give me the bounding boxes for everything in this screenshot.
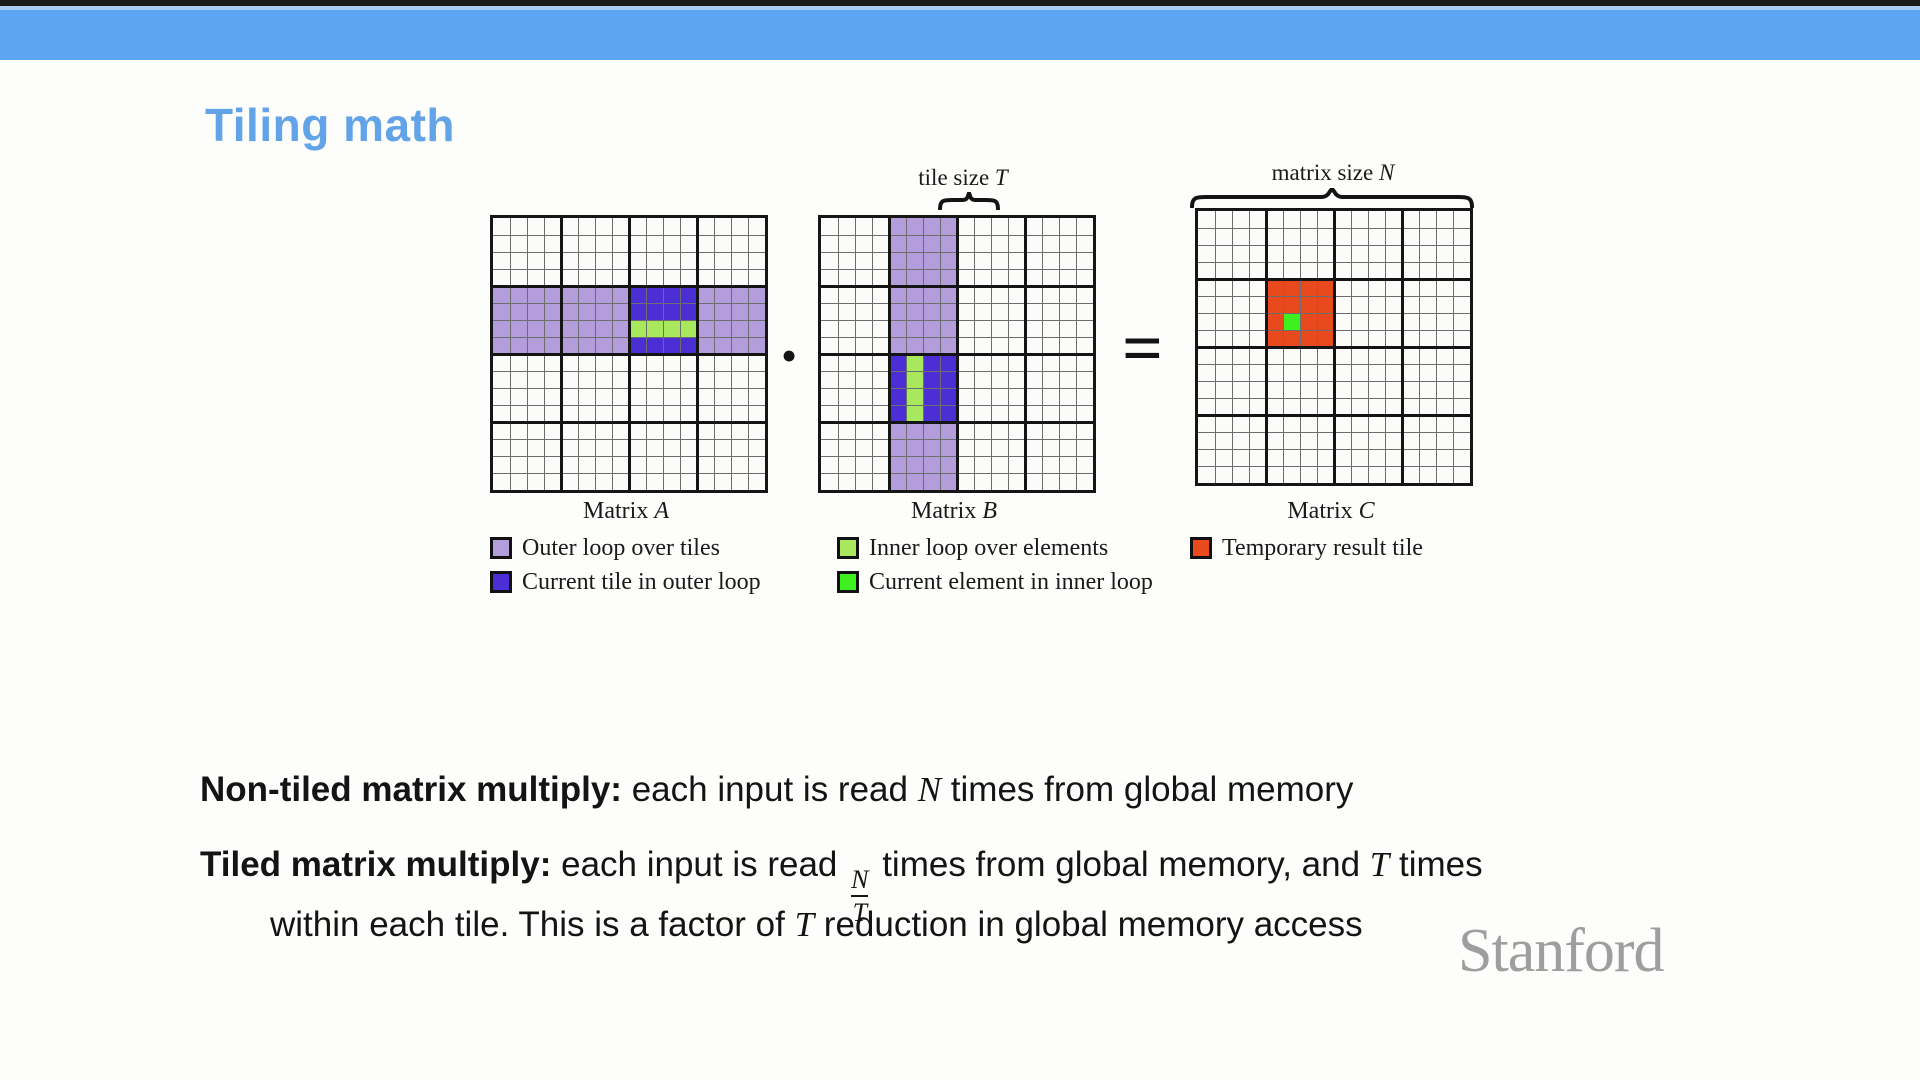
matrix-cell [561,286,578,303]
legend-label-current-element-in-inner-loop: Current element in inner loop [869,570,1153,594]
matrix-cell [906,354,923,371]
matrix-cell [1283,296,1300,313]
matrix-cell [889,303,906,320]
matrix-cell [906,320,923,337]
matrix-cell [923,388,940,405]
legend-label-temporary-result-tile: Temporary result tile [1222,536,1423,560]
tile-boundary-horizontal [1198,346,1470,349]
legend-label-current-tile-in-outer-loop: Current tile in outer loop [522,570,761,594]
matrix-cell [510,303,527,320]
matrix-cell [940,354,957,371]
matrix-cell [889,456,906,473]
matrix-cell [1317,330,1334,347]
matrix-cell [1266,279,1283,296]
matrix-cell [493,320,510,337]
matrix-cell [923,286,940,303]
matrix-cell [940,405,957,422]
matrix-cell [906,218,923,235]
fraction-bar [851,895,868,897]
matrix-cell [889,337,906,354]
matrix-cell [510,337,527,354]
matrix-cell [906,473,923,490]
legend-label-outer-loop-over-tiles: Outer loop over tiles [522,536,720,560]
body-line-1: Non-tiled matrix multiply: each input is… [200,770,1353,810]
matrix-a-label: Matrix A [490,498,762,525]
matrix-cell [940,337,957,354]
matrix-cell [1300,296,1317,313]
matrix-cell [889,388,906,405]
matrix-cell [629,303,646,320]
matrix-cell [493,303,510,320]
matrix-cell [940,439,957,456]
legend-item-outer-loop-over-tiles: Outer loop over tiles [490,536,720,560]
matrix-cell [889,473,906,490]
matrix-cell [906,456,923,473]
legend-label-inner-loop-over-elements: Inner loop over elements [869,536,1108,560]
body-line-3: within each tile. This is a factor of T … [270,905,1363,945]
body-line-2-part-b: times from global memory, and [872,845,1369,884]
matrix-cell [906,337,923,354]
legend-swatch-outer-loop-over-tiles [490,537,512,559]
legend-swatch-inner-loop-over-elements [837,537,859,559]
matrix-a-grid [490,215,768,493]
tile-boundary-horizontal [821,353,1093,356]
slide-canvas: Tiling math tile size T matrix size N • … [0,0,1920,1080]
matrix-cell [612,337,629,354]
matrix-cell [731,320,748,337]
matrix-cell [923,303,940,320]
legend-swatch-temporary-result-tile [1190,537,1212,559]
matrix-cell [595,286,612,303]
matrix-c-label: Matrix C [1195,498,1467,525]
matrix-cell [889,320,906,337]
matrix-cell [680,303,697,320]
matrix-cell [940,303,957,320]
matrix-cell [923,405,940,422]
matrix-cell [646,320,663,337]
matrix-cell [906,252,923,269]
matrix-c-grid [1195,208,1473,486]
matrix-cell [714,286,731,303]
matrix-cell [923,337,940,354]
matrix-cell [940,218,957,235]
matrix-cell [906,371,923,388]
matrix-cell [646,303,663,320]
matrix-cell [714,303,731,320]
matrix-cell [646,286,663,303]
matrix-cell [940,252,957,269]
matrix-cell [578,337,595,354]
matrix-cell [923,371,940,388]
legend-swatch-current-tile-in-outer-loop [490,571,512,593]
matrix-cell [629,320,646,337]
matrix-cell [940,422,957,439]
matrix-cell [923,473,940,490]
body-line-1-part-a: each input is read [622,770,918,809]
matrix-size-text: matrix size [1272,160,1374,185]
tile-boundary-vertical [1024,218,1027,490]
tile-boundary-horizontal [821,421,1093,424]
matrix-cell [663,303,680,320]
matrix-cell [663,320,680,337]
matrix-cell [612,320,629,337]
matrix-cell [680,337,697,354]
tile-size-label: tile size T [893,165,1033,191]
tile-size-brace [938,192,1000,210]
matrix-cell [527,337,544,354]
body-line-3-part-b: reduction in global memory access [814,905,1363,944]
matrix-cell [1317,313,1334,330]
matrix-cell [544,303,561,320]
matrix-cell [940,456,957,473]
matrix-cell [731,337,748,354]
top-blue-banner [0,6,1920,60]
body-line-3-part-a: within each tile. This is a factor of [270,905,795,944]
matrix-cell [697,286,714,303]
matrix-cell [595,303,612,320]
matrix-cell [697,303,714,320]
body-line-2-symbol: T [1370,845,1389,884]
matrix-cell [714,337,731,354]
matrix-cell [1283,279,1300,296]
matrix-cell [923,218,940,235]
matrix-cell [940,388,957,405]
body-line-1-bold: Non-tiled matrix multiply: [200,770,622,809]
matrix-cell [1266,296,1283,313]
matrix-cell [578,303,595,320]
matrix-cell [1317,279,1334,296]
matrix-cell [889,269,906,286]
tile-boundary-horizontal [1198,414,1470,417]
matrix-cell [544,337,561,354]
matrix-cell [923,439,940,456]
matrix-cell [527,303,544,320]
matrix-size-symbol: N [1379,160,1394,185]
matrix-cell [940,320,957,337]
stanford-watermark: Stanford [1458,916,1664,987]
top-banner-highlight [0,6,1920,10]
matrix-cell [940,473,957,490]
matrix-cell [748,286,765,303]
matrix-cell [510,286,527,303]
tile-size-symbol: T [995,165,1008,190]
matrix-cell [510,320,527,337]
matrix-cell [889,354,906,371]
matrix-cell [646,337,663,354]
matrix-cell [940,371,957,388]
matrix-cell [697,337,714,354]
matrix-cell [923,354,940,371]
body-line-1-symbol: N [918,770,941,809]
matrix-cell [629,337,646,354]
matrix-cell [561,337,578,354]
matrix-cell [1283,330,1300,347]
matrix-cell [527,286,544,303]
matrix-cell [889,422,906,439]
matrix-cell [748,337,765,354]
matrix-cell [1266,330,1283,347]
matrix-cell [940,269,957,286]
matrix-cell [923,269,940,286]
tile-boundary-vertical [696,218,699,490]
matrix-cell [1300,279,1317,296]
matrix-cell [889,405,906,422]
tile-boundary-horizontal [493,353,765,356]
matrix-cell [663,337,680,354]
matrix-cell [940,286,957,303]
matrix-cell [906,235,923,252]
legend-swatch-current-element-in-inner-loop [837,571,859,593]
tile-boundary-horizontal [493,421,765,424]
matrix-cell [663,286,680,303]
matrix-cell [680,320,697,337]
matrix-cell [906,439,923,456]
matrix-cell [906,286,923,303]
tile-size-text: tile size [918,165,989,190]
matrix-cell [1317,296,1334,313]
matrix-b-label: Matrix B [818,498,1090,525]
matrix-cell [544,286,561,303]
matrix-cell [923,320,940,337]
dot-operator: • [781,333,797,379]
matrix-cell [889,235,906,252]
matrix-cell [680,286,697,303]
matrix-size-label: matrix size N [1243,160,1423,186]
matrix-cell [889,439,906,456]
body-line-2-part-a: each input is read [551,845,847,884]
matrix-cell [906,303,923,320]
matrix-cell [889,252,906,269]
matrix-b-grid [818,215,1096,493]
matrix-cell [1300,330,1317,347]
legend-item-inner-loop-over-elements: Inner loop over elements [837,536,1108,560]
matrix-cell [612,303,629,320]
matrix-cell [527,320,544,337]
body-line-2-part-c: times [1389,845,1482,884]
body-line-2-bold: Tiled matrix multiply: [200,845,551,884]
body-line-3-symbol: T [795,905,814,944]
matrix-cell [906,388,923,405]
matrix-cell [748,320,765,337]
equals-operator: = [1122,312,1163,384]
matrix-cell [923,456,940,473]
matrix-cell [1266,313,1283,330]
matrix-cell [697,320,714,337]
matrix-cell [748,303,765,320]
matrix-cell [493,337,510,354]
matrix-cell [889,286,906,303]
legend-item-current-element-in-inner-loop: Current element in inner loop [837,570,1153,594]
matrix-cell [493,286,510,303]
matrix-cell [889,371,906,388]
fraction-numerator: N [851,866,868,893]
matrix-cell [906,422,923,439]
matrix-cell [595,337,612,354]
matrix-cell [906,405,923,422]
matrix-cell [612,286,629,303]
matrix-cell [923,252,940,269]
matrix-cell [940,235,957,252]
matrix-cell [923,422,940,439]
matrix-cell [1300,313,1317,330]
page-title: Tiling math [205,98,455,152]
matrix-cell [889,218,906,235]
matrix-cell [629,286,646,303]
matrix-cell [561,303,578,320]
matrix-size-brace [1190,188,1475,208]
legend-item-temporary-result-tile: Temporary result tile [1190,536,1423,560]
matrix-cell [544,320,561,337]
tile-boundary-vertical [1401,211,1404,483]
matrix-cell [595,320,612,337]
matrix-cell [1283,313,1300,330]
legend-item-current-tile-in-outer-loop: Current tile in outer loop [490,570,761,594]
body-line-1-part-b: times from global memory [941,770,1353,809]
matrix-cell [906,269,923,286]
matrix-cell [731,286,748,303]
matrix-cell [714,320,731,337]
matrix-cell [578,320,595,337]
matrix-cell [578,286,595,303]
matrix-cell [561,320,578,337]
matrix-cell [923,235,940,252]
matrix-cell [731,303,748,320]
